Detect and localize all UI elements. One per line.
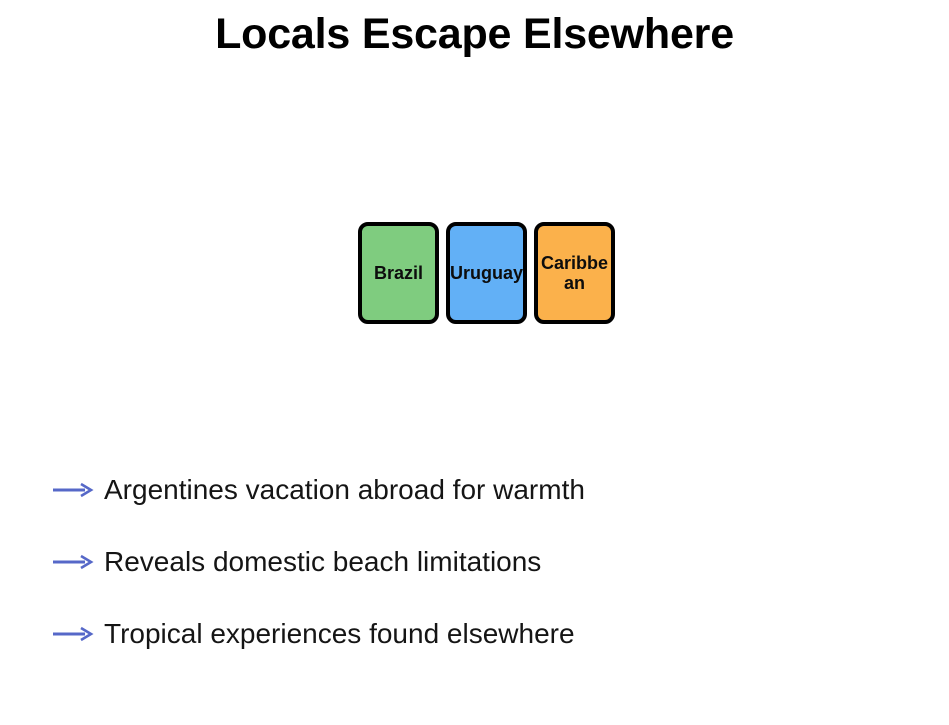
arrow-right-icon <box>48 625 104 643</box>
destination-box-uruguay[interactable]: Uruguay <box>446 222 527 324</box>
bullet-list: Argentines vacation abroad for warmth Re… <box>48 466 908 682</box>
bullet-text: Argentines vacation abroad for warmth <box>104 473 585 507</box>
destination-box-group: Brazil Uruguay Caribbean <box>358 222 615 324</box>
destination-label-uruguay: Uruguay <box>450 263 523 283</box>
destination-box-brazil[interactable]: Brazil <box>358 222 439 324</box>
slide-canvas: Locals Escape Elsewhere Brazil Uruguay C… <box>0 0 949 725</box>
arrow-right-icon <box>48 481 104 499</box>
list-item: Reveals domestic beach limitations <box>48 538 908 586</box>
destination-label-brazil: Brazil <box>374 263 423 283</box>
destination-box-caribbean[interactable]: Caribbean <box>534 222 615 324</box>
list-item: Argentines vacation abroad for warmth <box>48 466 908 514</box>
arrow-right-icon <box>48 553 104 571</box>
bullet-text: Tropical experiences found elsewhere <box>104 617 575 651</box>
destination-label-caribbean: Caribbean <box>538 253 611 293</box>
bullet-text: Reveals domestic beach limitations <box>104 545 541 579</box>
page-title: Locals Escape Elsewhere <box>0 8 949 60</box>
list-item: Tropical experiences found elsewhere <box>48 610 908 658</box>
